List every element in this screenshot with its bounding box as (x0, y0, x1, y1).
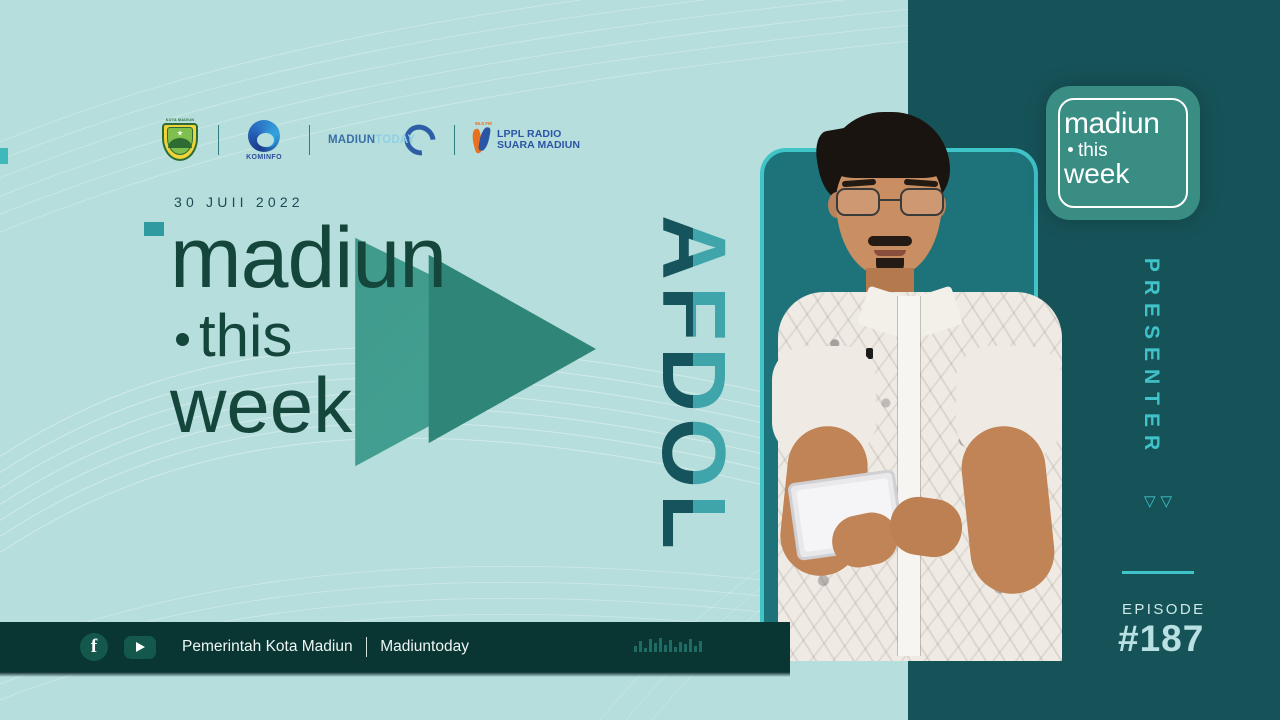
social-account-1: Pemerintah Kota Madiun (182, 638, 353, 656)
lppl-line2: SUARA MADIUN (497, 140, 580, 151)
social-account-2: Madiuntoday (380, 638, 469, 656)
madiuntoday-label: MADIUNTODAY (328, 134, 415, 146)
title-dot-icon (176, 333, 189, 346)
kominfo-logo: KOMINFO (237, 120, 291, 161)
episode-date: 30 JUII 2022 (174, 194, 304, 210)
radio-frequency-label: 95.5 FM (475, 121, 492, 126)
program-logo-card: madiun this week (1046, 86, 1200, 220)
card-accent-tab-left (0, 148, 8, 164)
card-accent-tab-bottom (144, 222, 164, 236)
card-logo-text: madiun this week (1064, 110, 1186, 188)
presenter-label-vertical: PRESENTER (1128, 248, 1174, 468)
episode-label: EPISODE (1122, 601, 1206, 618)
card-line-madiun: madiun (1064, 110, 1186, 137)
chevron-down-icon: ▽▽ (1144, 492, 1177, 510)
presenter-photo (770, 96, 1070, 661)
madiun-city-crest-icon: KOTA MADIUN (160, 118, 200, 162)
program-title-block: madiun this week (170, 222, 600, 472)
program-title-text: madiun this week (170, 222, 446, 442)
presenter-label-text: PRESENTER (1128, 248, 1174, 468)
logo-divider (309, 125, 310, 155)
social-accounts: Pemerintah Kota Madiun Madiuntoday (182, 637, 469, 657)
episode-divider (1122, 571, 1194, 574)
title-line-this: this (176, 306, 446, 366)
guest-name-vertical: AFDOL (638, 200, 748, 570)
logo-divider (218, 125, 219, 155)
kominfo-swirl-icon (248, 120, 280, 152)
bottom-bar-shadow (0, 672, 790, 677)
crest-top-text: KOTA MADIUN (166, 118, 194, 122)
logo-divider (454, 125, 455, 155)
lppl-flame-icon: 95.5 FM (473, 127, 493, 153)
title-line-madiun: madiun (170, 222, 446, 296)
lppl-radio-logo: 95.5 FM LPPL RADIO SUARA MADIUN (473, 127, 580, 153)
youtube-icon[interactable] (124, 636, 156, 659)
card-line-week: week (1064, 161, 1186, 188)
partner-logo-row: KOTA MADIUN KOMINFO MADIUNTODAY 95.5 FM … (160, 118, 580, 162)
card-dot-icon (1068, 147, 1073, 152)
title-line-week: week (170, 368, 446, 442)
eyeglasses-icon (836, 188, 944, 216)
kominfo-label: KOMINFO (246, 154, 282, 161)
madiuntoday-logo: MADIUNTODAY (328, 123, 436, 157)
lppl-text-block: LPPL RADIO SUARA MADIUN (497, 129, 580, 151)
social-separator (366, 637, 368, 657)
broadcast-title-card: KOTA MADIUN KOMINFO MADIUNTODAY 95.5 FM … (0, 0, 1280, 720)
facebook-icon[interactable]: f (80, 633, 108, 661)
episode-number: #187 (1118, 618, 1204, 660)
guest-name-text: AFDOL (638, 200, 748, 570)
equalizer-graphic (634, 638, 702, 652)
